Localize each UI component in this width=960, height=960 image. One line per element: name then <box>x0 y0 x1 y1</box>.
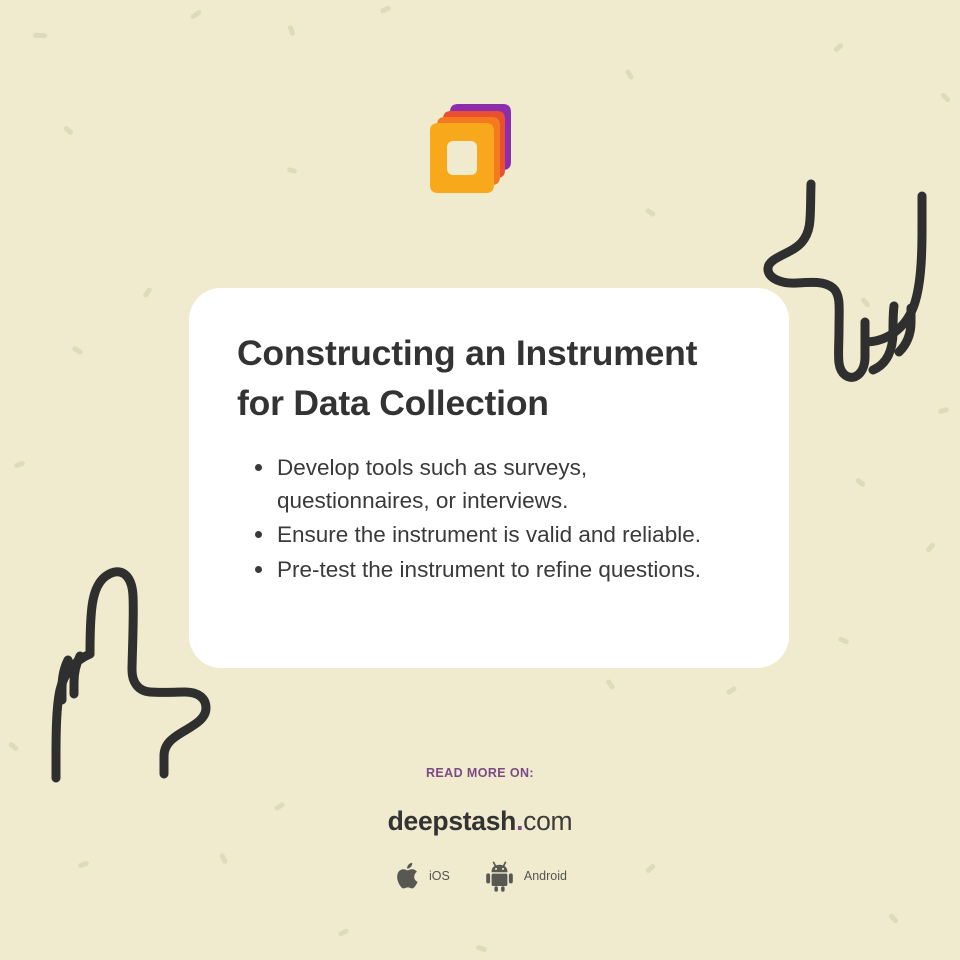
confetti-speck <box>63 125 75 136</box>
confetti-speck <box>938 407 950 415</box>
brand-name: deepstash <box>388 806 516 836</box>
confetti-speck <box>337 928 349 938</box>
confetti-speck <box>379 5 391 14</box>
list-item: Pre-test the instrument to refine questi… <box>237 553 745 586</box>
confetti-speck <box>833 42 845 53</box>
confetti-speck <box>475 944 487 952</box>
list-item: Develop tools such as surveys, questionn… <box>237 451 745 518</box>
confetti-speck <box>625 68 635 80</box>
android-icon <box>484 860 515 892</box>
android-label: Android <box>524 869 567 883</box>
confetti-speck <box>8 741 20 752</box>
idea-card: Constructing an Instrument for Data Coll… <box>189 288 789 668</box>
confetti-speck <box>71 346 83 356</box>
deepstash-wordmark[interactable]: deepstash.com <box>0 806 960 837</box>
apple-icon <box>393 860 420 892</box>
confetti-speck <box>860 297 871 309</box>
confetti-speck <box>855 477 867 488</box>
confetti-speck <box>940 92 951 103</box>
confetti-speck <box>605 679 615 691</box>
footer: READ MORE ON: deepstash.com iOS <box>0 766 960 892</box>
ios-label: iOS <box>429 869 450 883</box>
confetti-speck <box>190 9 203 20</box>
confetti-speck <box>33 33 47 38</box>
confetti-speck <box>13 460 25 468</box>
deepstash-logo <box>425 100 520 200</box>
confetti-speck <box>925 542 936 554</box>
confetti-speck <box>287 24 295 36</box>
confetti-speck <box>837 636 849 645</box>
list-item: Ensure the instrument is valid and relia… <box>237 518 745 551</box>
app-store-badges: iOS <box>0 860 960 892</box>
android-store-badge[interactable]: Android <box>484 860 567 892</box>
confetti-speck <box>142 287 152 299</box>
confetti-speck <box>287 167 298 174</box>
ios-store-badge[interactable]: iOS <box>393 860 450 892</box>
brand-tld: com <box>523 806 572 836</box>
confetti-speck <box>645 207 657 217</box>
page-title: Constructing an Instrument for Data Coll… <box>237 328 745 429</box>
deepstash-idea-card-poster: Constructing an Instrument for Data Coll… <box>0 0 960 960</box>
confetti-speck <box>726 685 738 695</box>
confetti-speck <box>888 913 899 925</box>
bullet-list: Develop tools such as surveys, questionn… <box>237 451 745 586</box>
read-more-label: READ MORE ON: <box>0 766 960 780</box>
